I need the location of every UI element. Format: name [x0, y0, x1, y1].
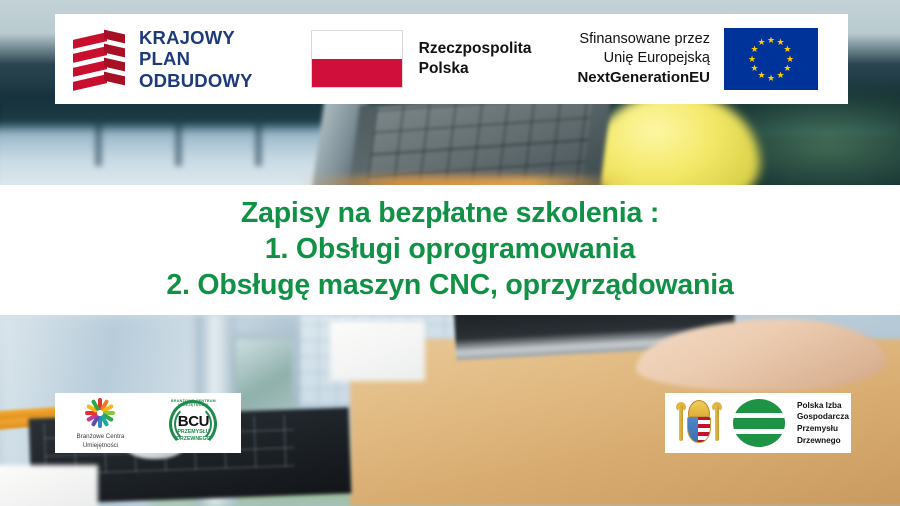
pigpd-line-3: Przemysłu	[797, 423, 849, 435]
eu-line-2: Unię Europejską	[577, 49, 710, 68]
eu-wordmark: Sfinansowane przez Unię Europejską NextG…	[577, 30, 710, 88]
bcu-sub-2: DRZEWNEGO	[167, 436, 219, 443]
kpo-line-3: ODBUDOWY	[139, 70, 253, 92]
eu-star: ★	[750, 64, 759, 73]
pigpd-green-circle-icon	[733, 399, 785, 447]
eu-star: ★	[783, 45, 792, 54]
bcu-sub-1: PRZEMYSŁU	[167, 429, 219, 436]
funding-logo-bar: KRAJOWY PLAN ODBUDOWY Rzeczpospolita Pol…	[55, 14, 848, 104]
poland-line-2: Polska	[419, 59, 532, 79]
eu-star: ★	[776, 71, 785, 80]
eu-star: ★	[757, 38, 766, 47]
poland-line-1: Rzeczpospolita	[419, 39, 532, 59]
kpo-logo: KRAJOWY PLAN ODBUDOWY	[55, 27, 253, 92]
crest-pigpd-logo-box: Polska Izba Gospodarcza Przemysłu Drzewn…	[665, 393, 851, 453]
bcu-seal-icon: BRANŻOWE CENTRUM UMIEJĘTNOŚCI BCU PRZEMY…	[167, 398, 219, 448]
european-union-logo: Sfinansowane przez Unię Europejską NextG…	[577, 28, 818, 90]
pigpd-wordmark: Polska Izba Gospodarcza Przemysłu Drzewn…	[797, 400, 849, 447]
episcopal-coat-of-arms-icon	[675, 399, 723, 447]
bcu-subtext: PRZEMYSŁU DRZEWNEGO	[167, 429, 219, 443]
headline-band: Zapisy na bezpłatne szkolenia : 1. Obsłu…	[0, 185, 900, 315]
pigpd-line-1: Polska Izba	[797, 400, 849, 412]
bck-caption-2: Umiejętności	[77, 442, 125, 450]
bck-logo: Branżowe Centra Umiejętności	[77, 396, 125, 450]
poland-wordmark: Rzeczpospolita Polska	[419, 39, 532, 79]
headline-line-3: 2. Obsługę maszyn CNC, oprzyrządowania	[166, 268, 733, 304]
bcu-acronym: BCU	[167, 413, 219, 430]
kpo-line-1: KRAJOWY	[139, 27, 253, 49]
bck-caption-1: Branżowe Centra	[77, 433, 125, 441]
bck-bcu-logo-box: Branżowe Centra Umiejętności BRANŻOWE CE…	[55, 393, 241, 453]
headline-line-2: 1. Obsługi oprogramowania	[265, 232, 635, 268]
kpo-line-2: PLAN	[139, 48, 253, 70]
eu-star: ★	[748, 55, 757, 64]
republic-of-poland-logo: Rzeczpospolita Polska	[311, 30, 532, 88]
pigpd-line-4: Drzewnego	[797, 435, 849, 447]
eu-line-1: Sfinansowane przez	[577, 30, 710, 49]
bcu-arc-text: BRANŻOWE CENTRUM UMIEJĘTNOŚCI	[167, 399, 219, 407]
bck-starburst-icon	[83, 396, 117, 430]
kpo-wordmark: KRAJOWY PLAN ODBUDOWY	[139, 27, 253, 92]
eu-line-3: NextGenerationEU	[577, 68, 710, 88]
kpo-building-mark-icon	[73, 30, 125, 88]
pigpd-line-2: Gospodarcza	[797, 411, 849, 423]
eu-star: ★	[767, 74, 776, 83]
banner-root: KRAJOWY PLAN ODBUDOWY Rzeczpospolita Pol…	[0, 0, 900, 506]
headline-line-1: Zapisy na bezpłatne szkolenia :	[241, 196, 659, 232]
eu-star: ★	[767, 36, 776, 45]
poland-flag-icon	[311, 30, 403, 88]
eu-flag-icon: ★★★★★★★★★★★★	[724, 28, 818, 90]
